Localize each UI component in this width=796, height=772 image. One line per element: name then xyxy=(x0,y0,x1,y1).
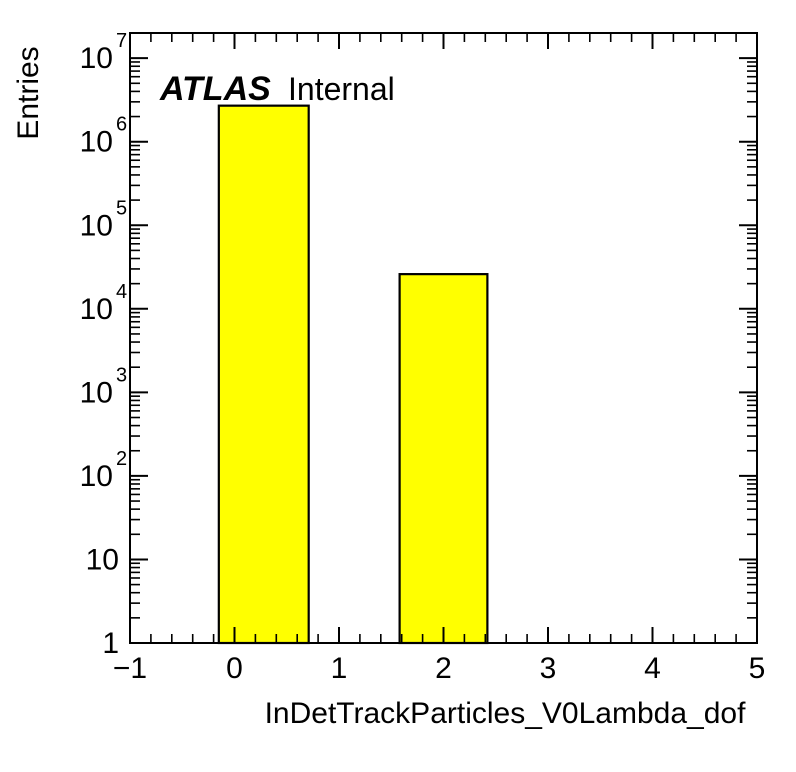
atlas-experiment-label: ATLAS xyxy=(159,70,271,108)
svg-text:10: 10 xyxy=(86,543,119,576)
svg-text:10: 10 xyxy=(80,293,113,326)
svg-text:10: 10 xyxy=(80,376,113,409)
atlas-status-label: Internal xyxy=(288,71,395,107)
svg-text:1: 1 xyxy=(102,627,119,660)
histogram-bar xyxy=(219,106,309,643)
y-tick-label: 10 xyxy=(86,543,119,576)
svg-text:6: 6 xyxy=(116,114,127,136)
x-tick-label: 1 xyxy=(331,652,348,685)
svg-text:7: 7 xyxy=(116,30,127,52)
chart-canvas: −1012345 110102103104105106107 InDetTrac… xyxy=(0,0,796,772)
histogram-plot: −1012345 110102103104105106107 InDetTrac… xyxy=(0,0,796,772)
svg-text:10: 10 xyxy=(80,209,113,242)
histogram-bar xyxy=(400,274,488,643)
x-axis-title: InDetTrackParticles_V0Lambda_dof xyxy=(265,697,746,730)
x-tick-label: 0 xyxy=(226,652,243,685)
y-tick-label: 1 xyxy=(102,627,119,660)
svg-text:10: 10 xyxy=(80,460,113,493)
svg-text:3: 3 xyxy=(116,364,127,386)
y-axis-title: Entries xyxy=(12,46,45,139)
svg-text:2: 2 xyxy=(116,448,127,470)
svg-text:10: 10 xyxy=(80,42,113,75)
x-tick-label: 4 xyxy=(644,652,661,685)
svg-text:10: 10 xyxy=(80,126,113,159)
x-tick-label: 3 xyxy=(540,652,557,685)
svg-text:4: 4 xyxy=(116,281,127,303)
x-tick-label: 2 xyxy=(435,652,452,685)
svg-text:5: 5 xyxy=(116,197,127,219)
x-tick-label: 5 xyxy=(749,652,766,685)
